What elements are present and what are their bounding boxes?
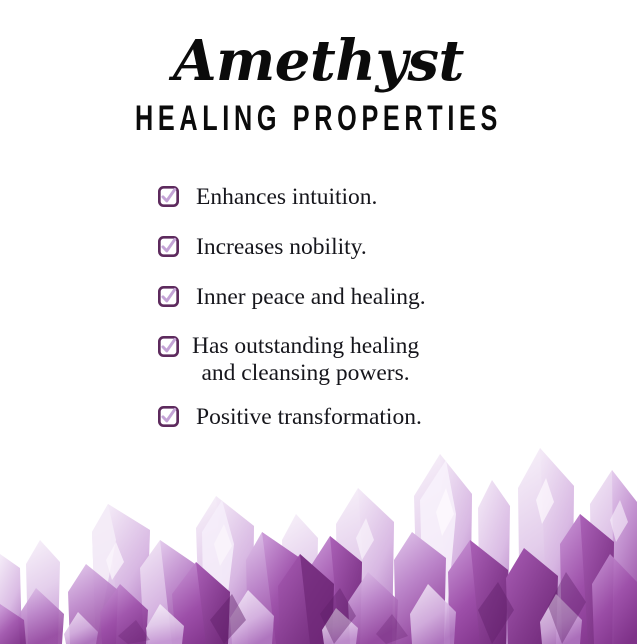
list-item: Increases nobility. — [0, 233, 637, 261]
amethyst-crystal-cluster-image — [0, 444, 637, 644]
healing-properties-list: Enhances intuition. Increases nobility. … — [0, 183, 637, 453]
list-item: Has outstanding healing and cleansing po… — [0, 333, 637, 387]
crystal-cluster-illustration — [0, 444, 637, 644]
list-item-label: Enhances intuition. — [196, 183, 377, 211]
checked-checkbox-icon — [158, 286, 179, 307]
page-title: Amethyst — [0, 30, 637, 92]
list-item-label: Has outstanding healing and cleansing po… — [192, 333, 419, 387]
list-item-label: Increases nobility. — [196, 233, 367, 261]
checked-checkbox-icon — [158, 186, 179, 207]
checked-checkbox-icon — [158, 406, 179, 427]
list-item-label: Positive transformation. — [196, 403, 422, 431]
checked-checkbox-icon — [158, 236, 179, 257]
header-block: Amethyst HEALING PROPERTIES — [0, 30, 637, 138]
list-item: Inner peace and healing. — [0, 283, 637, 311]
checked-checkbox-icon — [158, 336, 179, 357]
list-item: Positive transformation. — [0, 403, 637, 431]
list-item: Enhances intuition. — [0, 183, 637, 211]
page-subtitle: HEALING PROPERTIES — [89, 100, 548, 138]
list-item-label: Inner peace and healing. — [196, 283, 426, 311]
amethyst-healing-properties-graphic: Amethyst HEALING PROPERTIES Enhances int… — [0, 0, 637, 644]
